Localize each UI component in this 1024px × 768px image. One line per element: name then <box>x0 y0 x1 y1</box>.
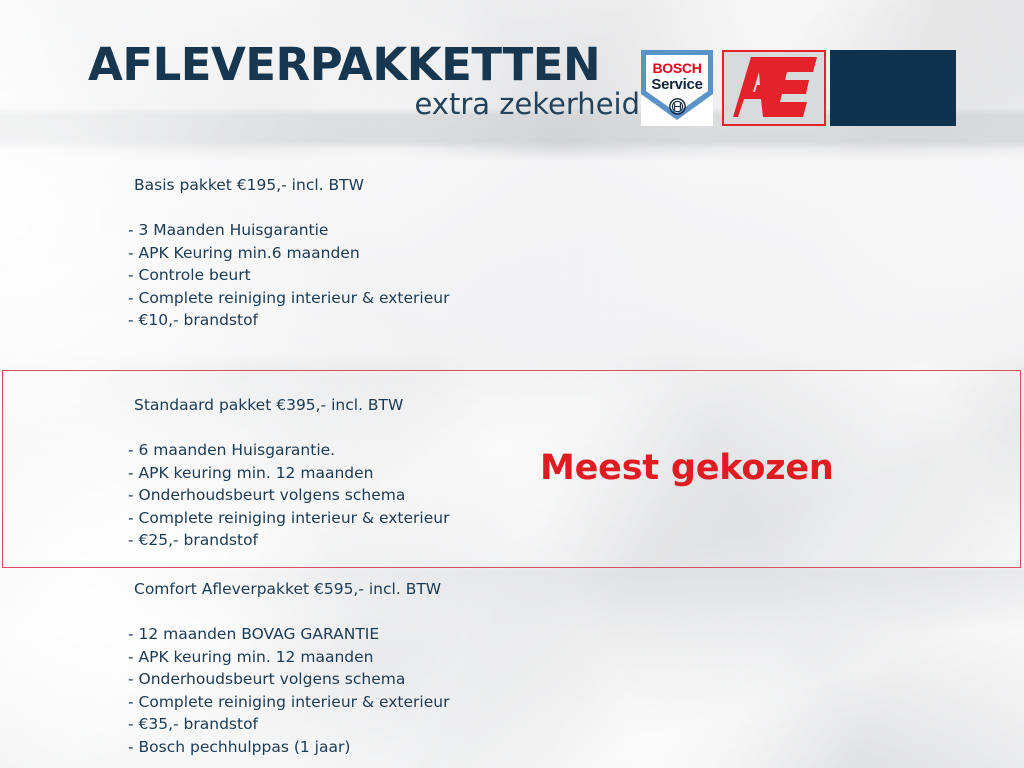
list-item: - Bosch pechhulppas (1 jaar) <box>128 736 449 759</box>
package-basis: Basis pakket €195,- incl. BTW - 3 Maande… <box>134 176 449 332</box>
navy-logo-block <box>830 50 956 126</box>
ae-logo <box>722 50 826 126</box>
slide-header: AFLEVERPAKKETTEN extra zekerheid BOSCH S… <box>0 0 1024 140</box>
bosch-car-service-logo: BOSCH Service <box>641 50 713 126</box>
package-standaard-feature-list: - 6 maanden Huisgarantie. - APK keuring … <box>128 439 449 552</box>
list-item: - €25,- brandstof <box>128 529 449 552</box>
most-chosen-badge: Meest gekozen <box>540 448 834 488</box>
list-item: - Complete reiniging interieur & exterie… <box>128 691 449 714</box>
bosch-service-wordmark: Service <box>641 76 713 93</box>
list-item: - Onderhoudsbeurt volgens schema <box>128 484 449 507</box>
list-item: - €10,- brandstof <box>128 309 449 332</box>
bosch-armature-icon <box>669 98 686 115</box>
list-item: - €35,- brandstof <box>128 713 449 736</box>
list-item: - 3 Maanden Huisgarantie <box>128 219 449 242</box>
page-subtitle: extra zekerheid <box>88 87 640 121</box>
ae-monogram-icon <box>727 55 821 121</box>
package-comfort-feature-list: - 12 maanden BOVAG GARANTIE - APK keurin… <box>128 623 449 759</box>
list-item: - Controle beurt <box>128 264 449 287</box>
list-item: - Complete reiniging interieur & exterie… <box>128 287 449 310</box>
page-title: AFLEVERPAKKETTEN <box>88 41 640 89</box>
list-item: - 6 maanden Huisgarantie. <box>128 439 449 462</box>
bosch-wordmark: BOSCH <box>641 60 713 76</box>
package-standaard-title: Standaard pakket €395,- incl. BTW <box>134 396 449 415</box>
package-basis-feature-list: - 3 Maanden Huisgarantie - APK Keuring m… <box>128 219 449 332</box>
header-title-block: AFLEVERPAKKETTEN extra zekerheid <box>88 41 640 121</box>
package-comfort: Comfort Afleverpakket €595,- incl. BTW -… <box>134 580 449 759</box>
list-item: - Onderhoudsbeurt volgens schema <box>128 668 449 691</box>
list-item: - 12 maanden BOVAG GARANTIE <box>128 623 449 646</box>
slide-canvas: AFLEVERPAKKETTEN extra zekerheid BOSCH S… <box>0 0 1024 768</box>
package-standaard: Standaard pakket €395,- incl. BTW - 6 ma… <box>134 396 449 552</box>
package-comfort-title: Comfort Afleverpakket €595,- incl. BTW <box>134 580 449 599</box>
package-basis-title: Basis pakket €195,- incl. BTW <box>134 176 449 195</box>
list-item: - Complete reiniging interieur & exterie… <box>128 507 449 530</box>
list-item: - APK keuring min. 12 maanden <box>128 462 449 485</box>
list-item: - APK Keuring min.6 maanden <box>128 242 449 265</box>
list-item: - APK keuring min. 12 maanden <box>128 646 449 669</box>
